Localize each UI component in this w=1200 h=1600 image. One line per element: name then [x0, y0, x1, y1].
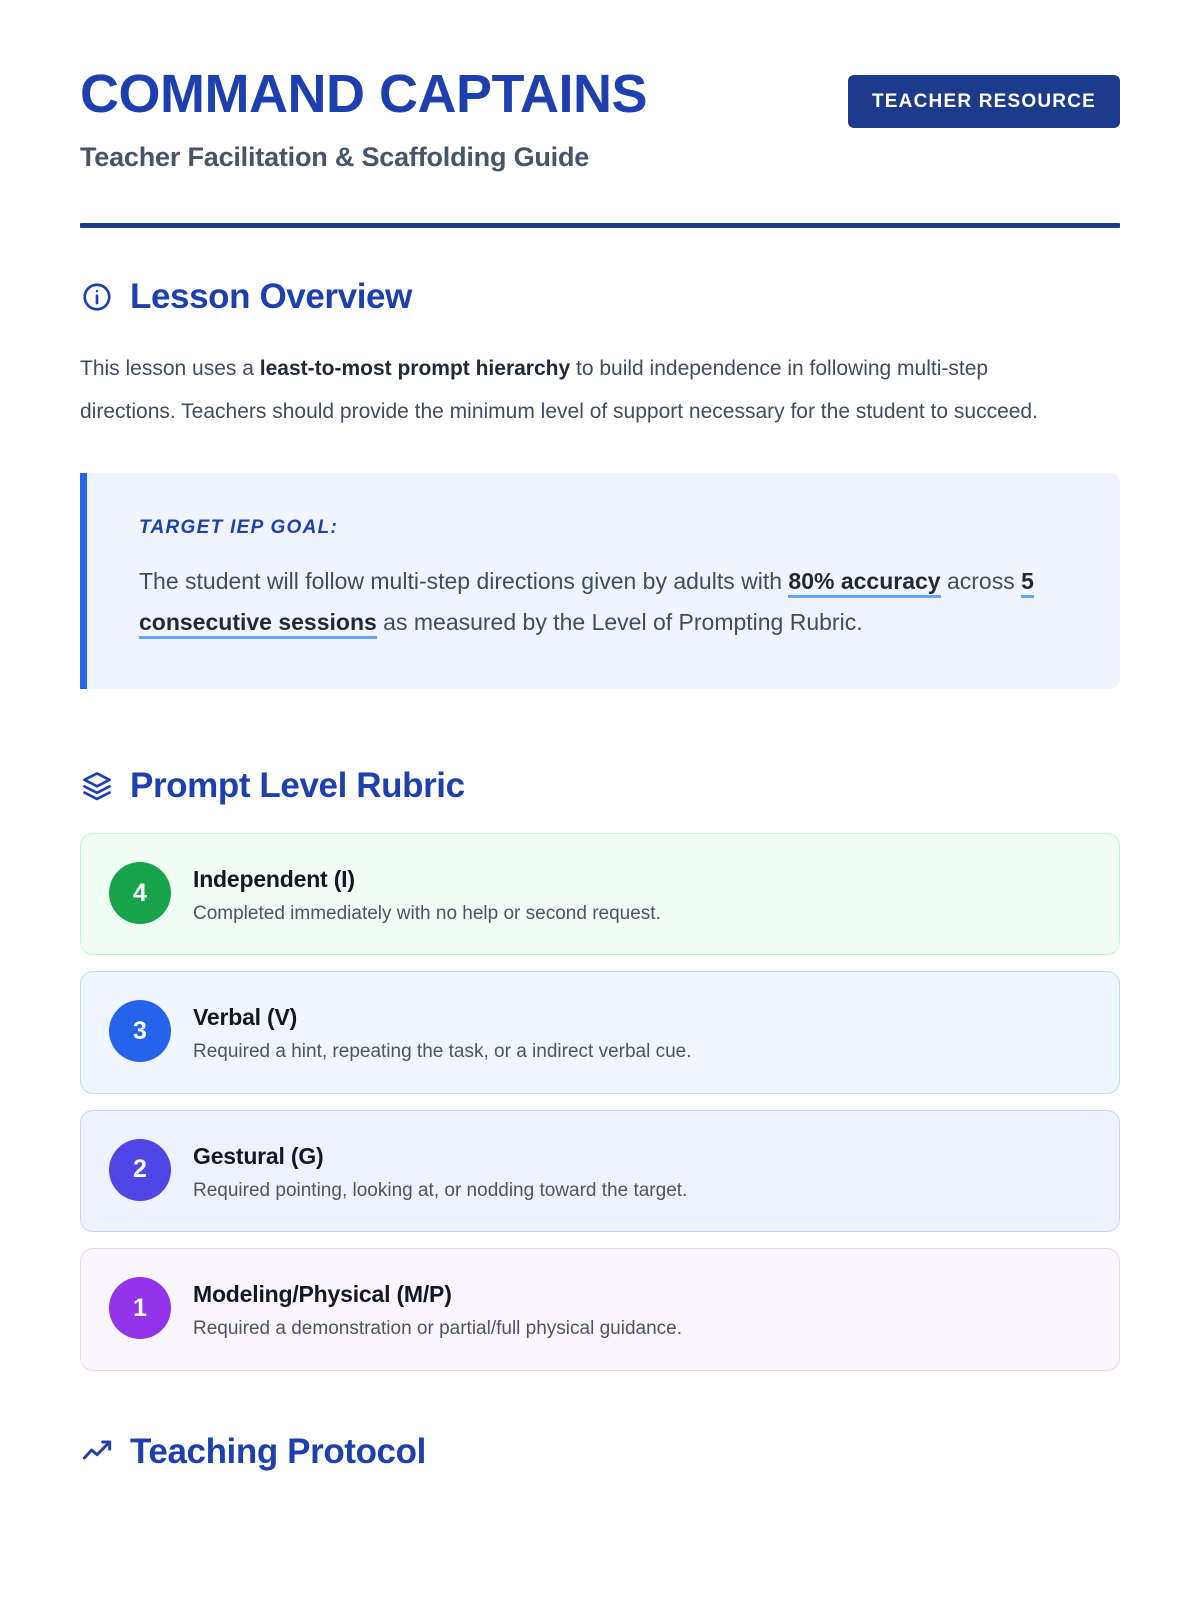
rubric-card-text: Independent (I)Completed immediately wit… [193, 860, 661, 926]
header-divider [80, 223, 1120, 228]
callout-text-2: across [941, 568, 1022, 594]
section-title-overview: Lesson Overview [130, 278, 412, 317]
rubric-card: 4Independent (I)Completed immediately wi… [80, 833, 1120, 955]
rubric-card: 3Verbal (V)Required a hint, repeating th… [80, 971, 1120, 1093]
status-badge: TEACHER RESOURCE [848, 75, 1120, 128]
prompt-level-rubric-heading: Prompt Level Rubric [80, 767, 1120, 806]
callout-text-3: as measured by the Level of Prompting Ru… [377, 609, 863, 635]
rubric-card-list: 4Independent (I)Completed immediately wi… [80, 833, 1120, 1371]
teaching-protocol-heading: Teaching Protocol [80, 1433, 1120, 1472]
trending-up-icon [80, 1435, 114, 1469]
rubric-card: 1Modeling/Physical (M/P)Required a demon… [80, 1248, 1120, 1370]
document-header: COMMAND CAPTAINS TEACHER RESOURCE Teache… [80, 0, 1120, 228]
rubric-card-text: Verbal (V)Required a hint, repeating the… [193, 998, 692, 1064]
overview-text-lead: This lesson uses a [80, 357, 260, 380]
rubric-card-title: Modeling/Physical (M/P) [193, 1280, 682, 1309]
rubric-card-description: Required a demonstration or partial/full… [193, 1316, 682, 1342]
lesson-overview-paragraph: This lesson uses a least-to-most prompt … [80, 347, 1060, 433]
teacher-resource-document: COMMAND CAPTAINS TEACHER RESOURCE Teache… [0, 0, 1200, 1600]
callout-label: TARGET IEP GOAL: [139, 517, 1076, 539]
lesson-overview-heading: Lesson Overview [80, 278, 1120, 317]
section-title-rubric: Prompt Level Rubric [130, 767, 465, 806]
rubric-card-description: Completed immediately with no help or se… [193, 901, 661, 927]
rubric-card-description: Required pointing, looking at, or noddin… [193, 1178, 687, 1204]
rubric-score-badge: 4 [109, 862, 171, 924]
overview-text-emphasis: least-to-most prompt hierarchy [260, 357, 570, 380]
callout-body: The student will follow multi-step direc… [139, 561, 1076, 643]
rubric-card-title: Verbal (V) [193, 1003, 692, 1032]
target-iep-goal-callout: TARGET IEP GOAL: The student will follow… [80, 473, 1120, 689]
callout-text-1: The student will follow multi-step direc… [139, 568, 788, 594]
header-top-row: COMMAND CAPTAINS TEACHER RESOURCE [80, 66, 1120, 128]
callout-highlight-accuracy: 80% accuracy [788, 568, 940, 598]
rubric-score-badge: 3 [109, 1000, 171, 1062]
rubric-card-description: Required a hint, repeating the task, or … [193, 1039, 692, 1065]
page-subtitle: Teacher Facilitation & Scaffolding Guide [80, 142, 1120, 173]
rubric-card-text: Gestural (G)Required pointing, looking a… [193, 1137, 687, 1203]
rubric-score-badge: 2 [109, 1139, 171, 1201]
rubric-card-title: Gestural (G) [193, 1142, 687, 1171]
section-title-protocol: Teaching Protocol [130, 1433, 426, 1472]
rubric-card: 2Gestural (G)Required pointing, looking … [80, 1110, 1120, 1232]
rubric-card-title: Independent (I) [193, 865, 661, 894]
page-title: COMMAND CAPTAINS [80, 66, 647, 123]
rubric-card-text: Modeling/Physical (M/P)Required a demons… [193, 1275, 682, 1341]
layers-icon [80, 769, 114, 803]
rubric-score-badge: 1 [109, 1277, 171, 1339]
info-circle-icon [80, 280, 114, 314]
